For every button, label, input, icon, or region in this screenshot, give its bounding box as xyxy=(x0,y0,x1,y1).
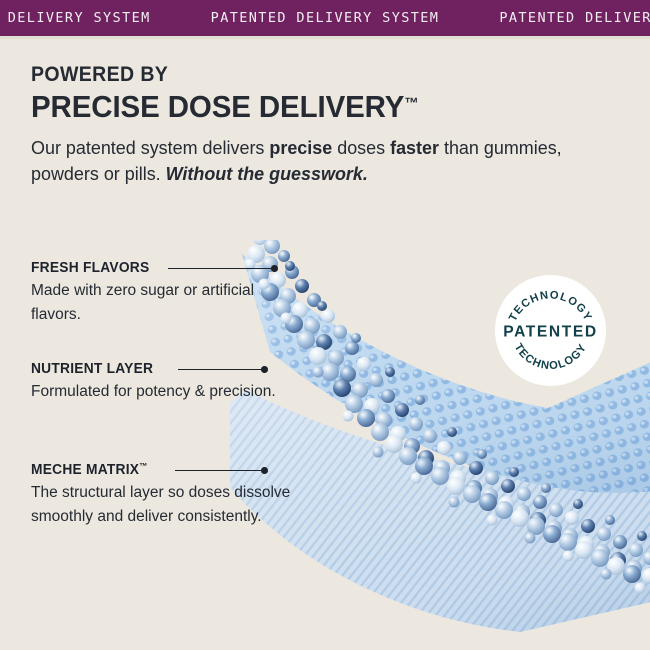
callout-title: FRESH FLAVORS xyxy=(31,259,278,276)
subhead-text-2: doses xyxy=(332,137,390,158)
trademark-icon: ™ xyxy=(404,95,418,112)
callout-body: Formulated for potency & precision. xyxy=(31,380,291,404)
callout-title: NUTRIENT LAYER xyxy=(31,360,278,377)
patented-delivery-marquee: PATENTED DELIVERY SYSTEM PATENTED DELIVE… xyxy=(0,0,650,36)
callout-title-text: NUTRIENT LAYER xyxy=(31,361,153,377)
callout-meche-matrix: MECHE MATRIX™ The structural layer so do… xyxy=(31,461,291,528)
subhead-emphasis: Without the guesswork. xyxy=(166,163,368,184)
subhead-bold-precise: precise xyxy=(269,137,332,158)
eyebrow-label: POWERED BY xyxy=(31,64,589,86)
callout-title-text: FRESH FLAVORS xyxy=(31,260,149,276)
ribbed-base-layer xyxy=(230,360,650,650)
trademark-icon: ™ xyxy=(139,461,147,471)
marquee-item: PATENTED DELIVERY SYSTEM xyxy=(0,0,211,36)
subheading-paragraph: Our patented system delivers precise dos… xyxy=(31,135,625,188)
subhead-bold-faster: faster xyxy=(390,137,439,158)
badge-center-text: PATENTED xyxy=(503,324,598,341)
callout-nutrient-layer: NUTRIENT LAYER Formulated for potency & … xyxy=(31,360,291,404)
subhead-text-1: Our patented system delivers xyxy=(31,137,269,158)
page-title: PRECISE DOSE DELIVERY™ xyxy=(31,90,601,125)
callout-title: MECHE MATRIX™ xyxy=(31,461,278,478)
marquee-track: PATENTED DELIVERY SYSTEM PATENTED DELIVE… xyxy=(0,0,650,36)
callout-title-text: MECHE MATRIX xyxy=(31,462,139,478)
callout-body: The structural layer so doses dissolve s… xyxy=(31,481,291,528)
page-title-text: PRECISE DOSE DELIVERY xyxy=(31,89,404,124)
marquee-underline xyxy=(0,36,650,39)
callout-body: Made with zero sugar or artificial flavo… xyxy=(31,279,291,326)
header-block: POWERED BY PRECISE DOSE DELIVERY™ Our pa… xyxy=(31,64,631,187)
patented-technology-badge: TECHNOLOGY PATENTED TECHNOLOGY xyxy=(495,275,606,386)
promo-panel: PATENTED DELIVERY SYSTEM PATENTED DELIVE… xyxy=(0,0,650,650)
marquee-item: PATENTED DELIVERY SYSTEM xyxy=(499,0,650,36)
marquee-item: PATENTED DELIVERY SYSTEM xyxy=(211,0,500,36)
callout-fresh-flavors: FRESH FLAVORS Made with zero sugar or ar… xyxy=(31,259,291,326)
